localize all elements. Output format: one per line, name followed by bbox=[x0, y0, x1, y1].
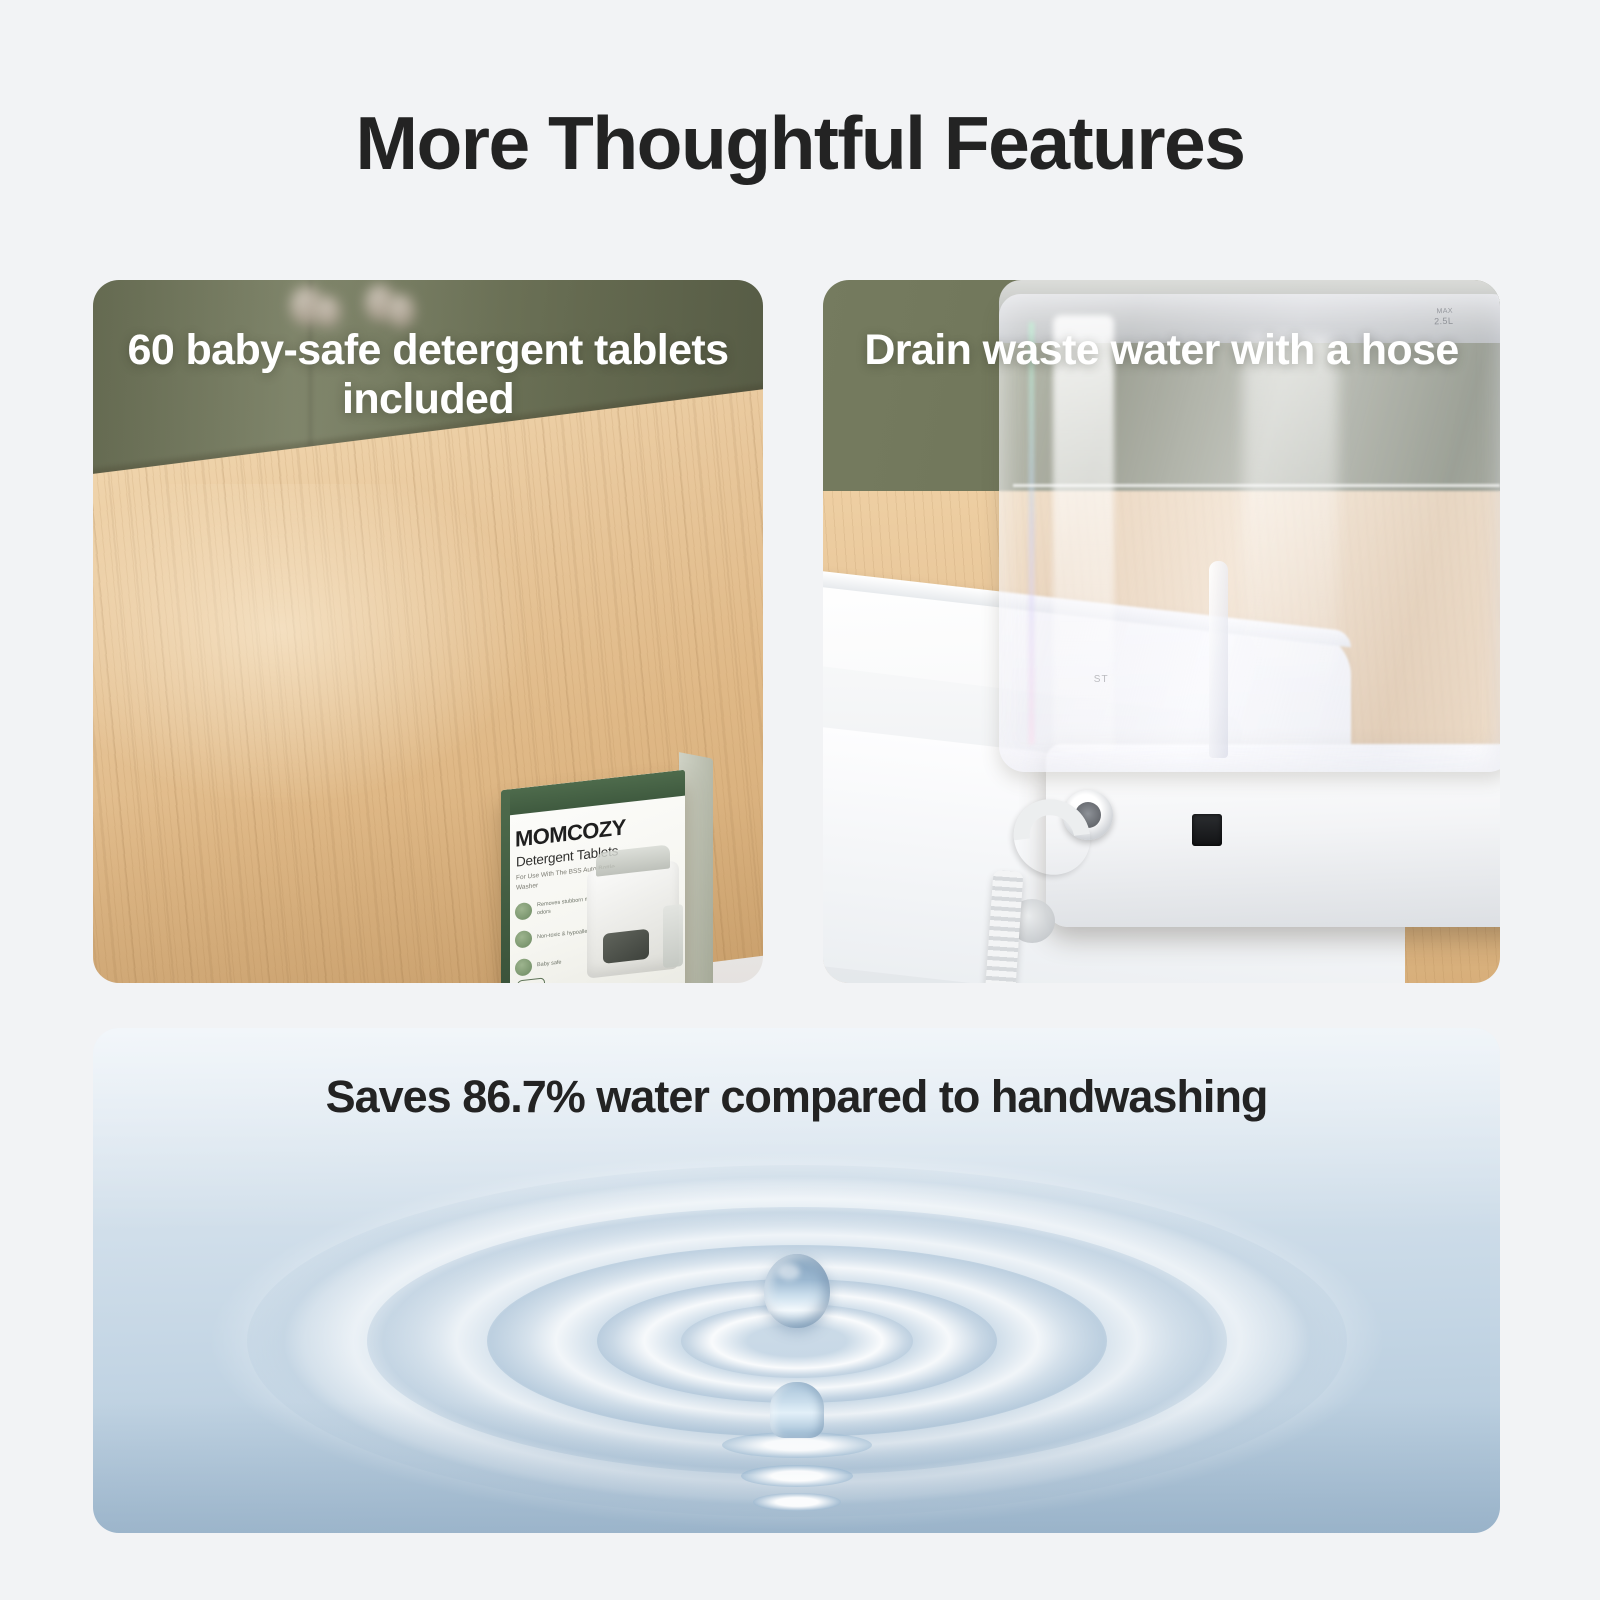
box-feature-label: Baby safe bbox=[537, 959, 561, 970]
feature-badge-icon bbox=[515, 902, 532, 921]
detergent-tablets-box: MOMCOZY Detergent Tablets For Use With T… bbox=[501, 770, 685, 983]
tank-side-marking: ST bbox=[1094, 674, 1109, 685]
splash-ring bbox=[741, 1465, 853, 1487]
drain-photo: MAX 2.5L ST bbox=[823, 280, 1500, 983]
cabinet-knob-icon bbox=[315, 296, 341, 328]
water-top-sheen bbox=[93, 1028, 1500, 1230]
page-title: More Thoughtful Features bbox=[0, 104, 1600, 183]
feature-caption-water-savings: Saves 86.7% water compared to handwashin… bbox=[93, 1072, 1500, 1122]
tank-highlight bbox=[1053, 315, 1114, 751]
feature-badge-icon bbox=[515, 958, 532, 977]
splash-column bbox=[770, 1382, 824, 1438]
feature-badge-icon bbox=[515, 930, 532, 949]
feature-card-tablets[interactable]: MOMCOZY Detergent Tablets For Use With T… bbox=[93, 280, 763, 983]
feature-card-drain[interactable]: MAX 2.5L ST Drain waste water with a hos… bbox=[823, 280, 1500, 983]
tank-capacity-marking: MAX 2.5L bbox=[1433, 308, 1453, 327]
splash-ring bbox=[753, 1493, 841, 1511]
feature-caption-drain: Drain waste water with a hose bbox=[823, 326, 1500, 375]
tank-highlight bbox=[1243, 336, 1338, 702]
tank-capacity-value: 2.5L bbox=[1433, 316, 1452, 327]
tank-intake-tube bbox=[1209, 561, 1228, 758]
water-droplet bbox=[764, 1254, 830, 1328]
box-left-band bbox=[501, 789, 510, 983]
feature-card-water-savings[interactable]: Saves 86.7% water compared to handwashin… bbox=[93, 1028, 1500, 1533]
appliance-vent-port bbox=[1192, 814, 1222, 846]
cabinet-knob-icon bbox=[387, 294, 415, 328]
box-appliance-tank-illustration bbox=[663, 904, 683, 968]
box-front-panel: MOMCOZY Detergent Tablets For Use With T… bbox=[501, 770, 685, 983]
tank-prism-reflection bbox=[1029, 322, 1034, 744]
tank-water-line bbox=[1013, 484, 1500, 487]
feature-caption-tablets: 60 baby-safe detergent tablets included bbox=[93, 326, 763, 425]
